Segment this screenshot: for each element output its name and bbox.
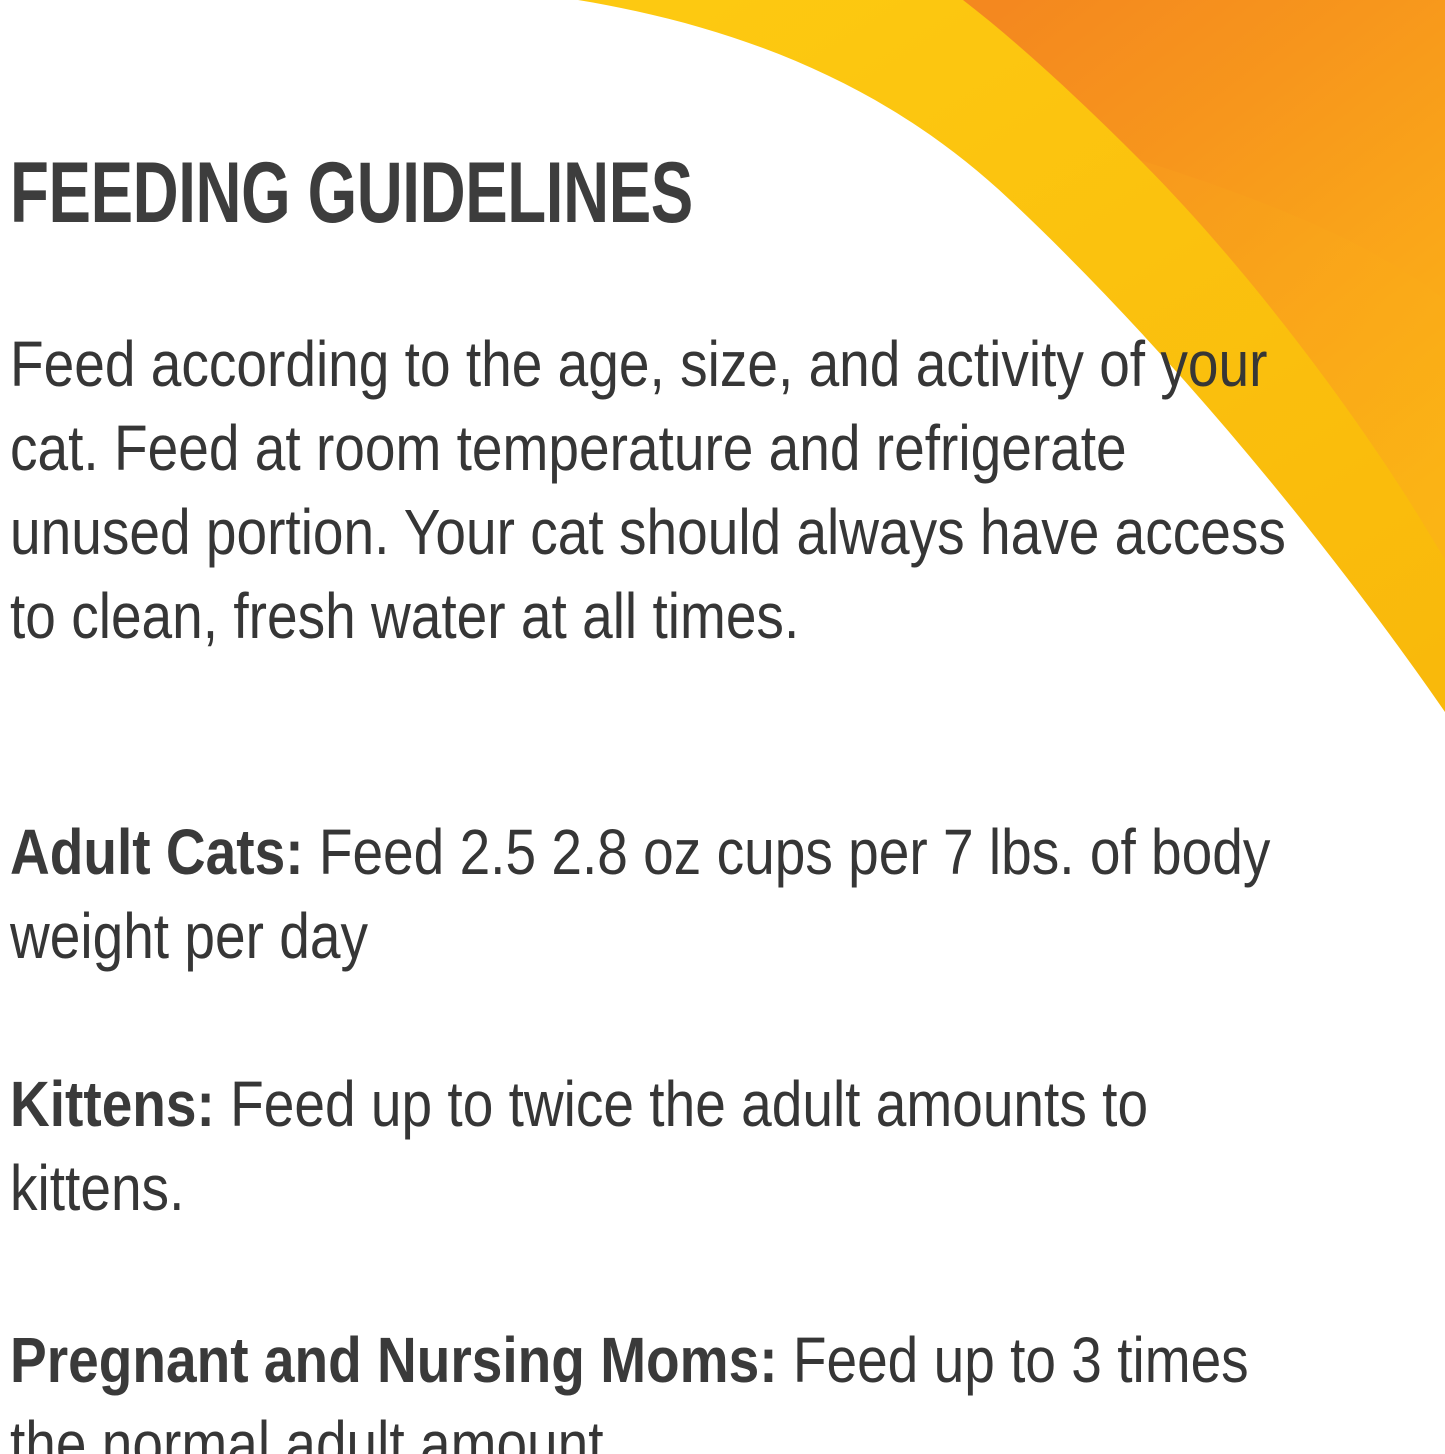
pregnant-nursing-line: Pregnant and Nursing Moms: Feed up to 3 … (10, 1318, 1300, 1454)
adult-cats-label: Adult Cats: (10, 816, 304, 888)
adult-cats-paragraph: Adult Cats: Feed 2.5 2.8 oz cups per 7 l… (10, 810, 1300, 978)
pregnant-nursing-paragraph: Pregnant and Nursing Moms: Feed up to 3 … (10, 1318, 1300, 1454)
intro-paragraph: Feed according to the age, size, and act… (10, 322, 1300, 658)
kittens-label: Kittens: (10, 1068, 215, 1140)
kittens-line: Kittens: Feed up to twice the adult amou… (10, 1062, 1300, 1230)
pregnant-nursing-label: Pregnant and Nursing Moms: (10, 1324, 778, 1396)
feeding-guidelines-panel: FEEDING GUIDELINES Feed according to the… (0, 0, 1445, 1454)
page-title: FEEDING GUIDELINES (10, 148, 693, 238)
adult-cats-line: Adult Cats: Feed 2.5 2.8 oz cups per 7 l… (10, 810, 1300, 978)
intro-text: Feed according to the age, size, and act… (10, 322, 1300, 658)
kittens-paragraph: Kittens: Feed up to twice the adult amou… (10, 1062, 1300, 1230)
